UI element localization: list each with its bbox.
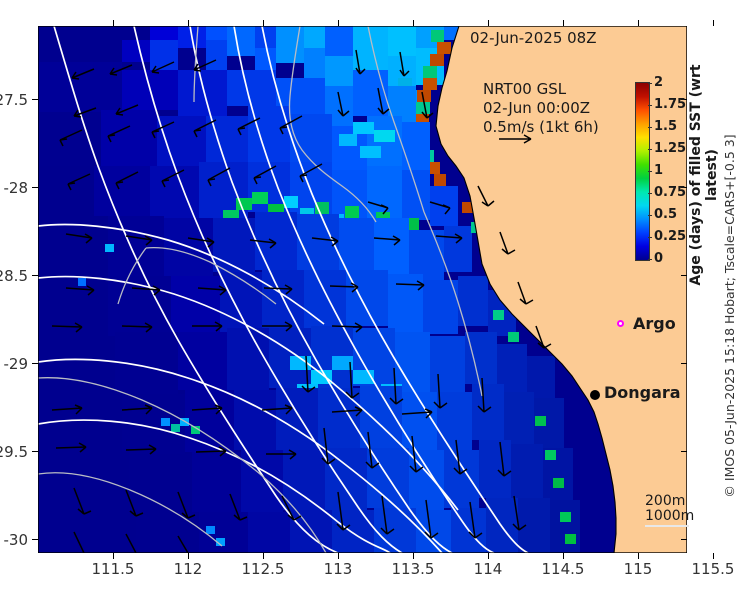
product-label-line2: 02-Jun 00:00Z (483, 99, 590, 117)
colorbar-tick-label: 0 (654, 252, 663, 265)
colorbar-tick-label: 1.75 (654, 98, 686, 111)
colorbar-tick-label: 1.25 (654, 142, 686, 155)
x-tick-label: 114.5 (533, 560, 593, 578)
colorbar-title: Age (days) of filled SST (wrt latest) (688, 60, 720, 290)
y-tick-label: -30 (0, 531, 28, 549)
x-tick-label: 113.5 (383, 560, 443, 578)
colorbar-tick-label: 1.5 (654, 120, 677, 133)
depth-contour-key: 200m 1000m (645, 494, 694, 527)
dongara-marker-icon (590, 390, 600, 400)
x-tick-label: 115 (608, 560, 668, 578)
colorbar-tick-label: 0.75 (654, 186, 686, 199)
timestamp-label: 02-Jun-2025 08Z (470, 29, 597, 47)
dongara-label: Dongara (604, 383, 681, 402)
depth-1000m-label: 1000m (645, 509, 694, 524)
x-tick-label: 112.5 (233, 560, 293, 578)
y-tick-label: -27.5 (0, 91, 28, 109)
product-label-line1: NRT00 GSL (483, 80, 566, 98)
x-tick-label: 111.5 (83, 560, 143, 578)
depth-200m-label: 200m (645, 494, 694, 509)
credit-text: © IMOS 05-Jun-2025 15:18 Hobart; Tscale=… (722, 66, 737, 566)
colorbar-tick-label: 2 (654, 76, 663, 89)
colorbar-tick-label: 1 (654, 164, 663, 177)
argo-label: Argo (633, 314, 676, 333)
y-tick-label: -28.5 (0, 267, 28, 285)
x-tick-label: 112 (158, 560, 218, 578)
x-tick-label: 114 (458, 560, 518, 578)
depth-key-line (645, 525, 689, 527)
argo-marker-icon (617, 320, 624, 327)
x-tick-label: 113 (308, 560, 368, 578)
y-tick-label: -28 (0, 179, 28, 197)
y-tick-label: -29.5 (0, 443, 28, 461)
colorbar-tick-label: 0.5 (654, 208, 677, 221)
velocity-scale-arrow (497, 132, 541, 146)
y-tick-label: -29 (0, 355, 28, 373)
colorbar-tick-label: 0.25 (654, 230, 686, 243)
